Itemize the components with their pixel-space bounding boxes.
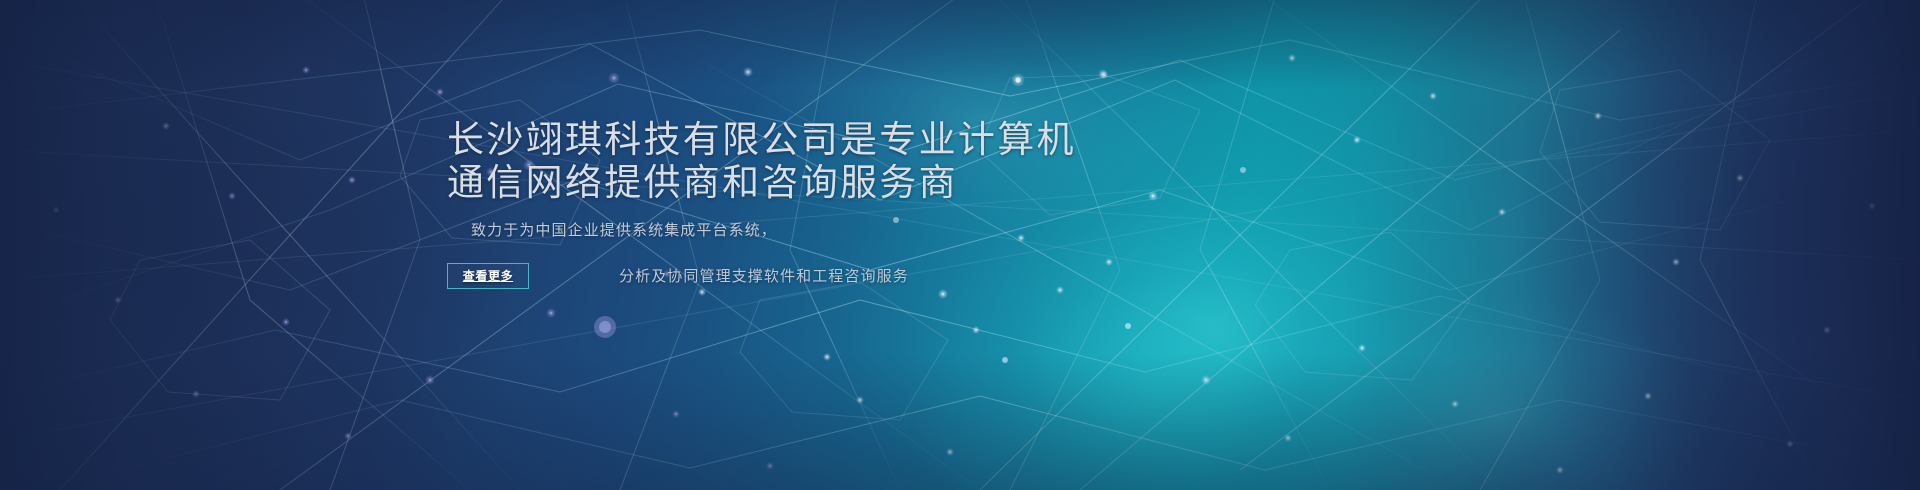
hero-cta-row: 查看更多	[447, 263, 529, 289]
hero-banner: 长沙翊琪科技有限公司是专业计算机 通信网络提供商和咨询服务商 致力于为中国企业提…	[0, 0, 1920, 490]
headline-line-2: 通信网络提供商和咨询服务商	[447, 161, 1347, 204]
hero-subtitle: 致力于为中国企业提供系统集成平台系统， 分析及协同管理支撑软件和工程咨询服务	[471, 220, 1347, 288]
headline-line-1: 长沙翊琪科技有限公司是专业计算机	[447, 119, 1076, 160]
subtitle-line-1: 致力于为中国企业提供系统集成平台系统，	[471, 222, 777, 239]
subtitle-line-2: 分析及协同管理支撑软件和工程咨询服务	[619, 266, 1347, 288]
hero-headline: 长沙翊琪科技有限公司是专业计算机 通信网络提供商和咨询服务商	[447, 118, 1347, 204]
view-more-button[interactable]: 查看更多	[447, 263, 529, 289]
hero-content: 长沙翊琪科技有限公司是专业计算机 通信网络提供商和咨询服务商 致力于为中国企业提…	[447, 118, 1347, 288]
